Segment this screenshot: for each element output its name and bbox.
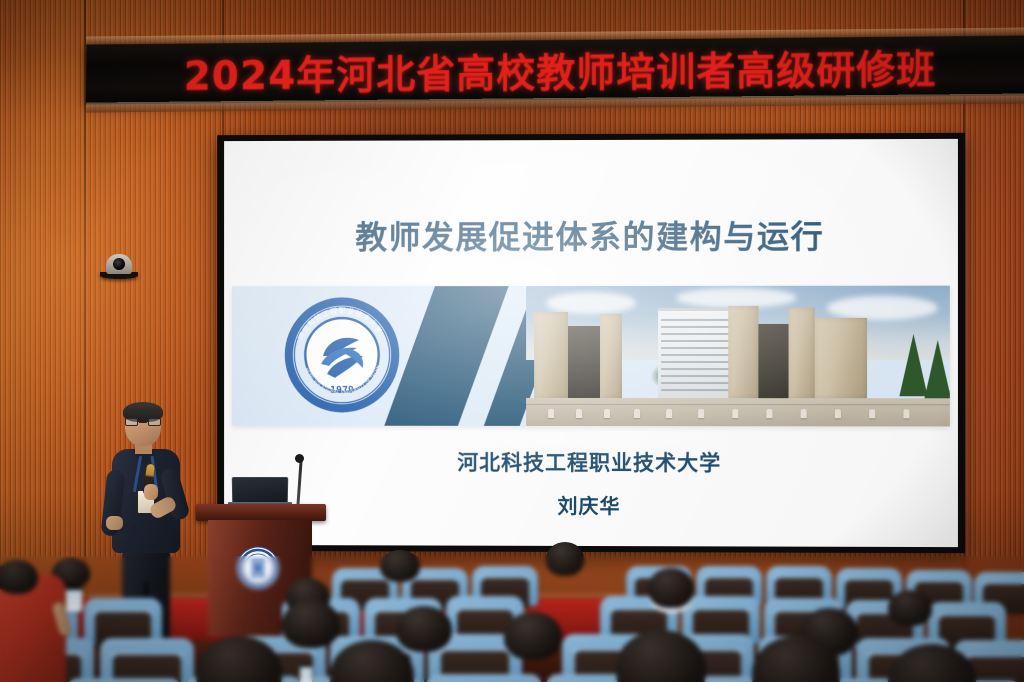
audience-head — [0, 560, 38, 594]
gate-pillar — [534, 312, 568, 398]
presenter-hand-holding-mic — [144, 484, 158, 500]
slide-header-band: 1979 河北科技工程职业技术大学 HEBEI VOCATIONAL UNIVE… — [232, 286, 950, 427]
camera-lens-icon — [113, 258, 125, 270]
audience-head — [648, 568, 694, 608]
seat — [426, 674, 542, 682]
lectern-top-surface — [196, 504, 326, 521]
bollard — [903, 409, 909, 418]
audience-head — [380, 550, 420, 582]
gate-opening — [568, 326, 600, 398]
presentation-laptop — [232, 477, 288, 505]
audience-head — [396, 606, 452, 652]
bollard — [604, 409, 610, 418]
presenter-hand-left — [106, 516, 123, 530]
eyeglasses-icon — [125, 418, 161, 427]
microphone-capsule-icon — [295, 454, 304, 463]
university-logo-seal: 1979 河北科技工程职业技术大学 HEBEI VOCATIONAL UNIVE… — [283, 296, 400, 414]
conifer-tree — [924, 340, 950, 402]
bollard — [835, 409, 841, 418]
audience-head — [546, 542, 584, 576]
cloud — [546, 292, 636, 314]
bollard — [576, 409, 582, 418]
auditorium-photo: 2024年河北省高校教师培训者高级研修班 教师发展促进体系的建构与运行 — [0, 0, 1024, 682]
audience-head — [282, 600, 340, 648]
bollard — [732, 409, 738, 418]
audience-seating — [0, 540, 1024, 682]
campus-gate-photo — [526, 286, 950, 427]
bollard — [548, 409, 554, 418]
gate-wall — [815, 318, 867, 398]
projection-screen: 教师发展促进体系的建构与运行 1979 — [224, 139, 958, 547]
bollard — [634, 409, 640, 418]
cloud — [827, 296, 938, 320]
slide-presenter-name: 刘庆华 — [224, 489, 958, 520]
bollard — [869, 409, 875, 418]
smartphone-recording — [300, 664, 312, 682]
event-banner: 2024年河北省高校教师培训者高级研修班 — [86, 32, 1024, 108]
slide-title: 教师发展促进体系的建构与运行 — [224, 211, 958, 258]
seat — [100, 638, 194, 682]
seat — [66, 678, 182, 682]
gate-pillar — [600, 314, 622, 398]
audience-head — [888, 590, 932, 626]
bollard — [801, 409, 807, 418]
audience-head — [504, 612, 562, 660]
bollard — [698, 409, 704, 418]
slide-organization: 河北科技工程职业技术大学 — [224, 446, 958, 477]
bollard — [766, 409, 772, 418]
gate-pillar — [728, 306, 758, 398]
projection-screen-frame: 教师发展促进体系的建构与运行 1979 — [217, 133, 965, 553]
smartphone-recording — [66, 586, 82, 612]
bollard — [666, 409, 672, 418]
gate-opening — [758, 324, 788, 398]
gate-pillar — [789, 308, 815, 398]
